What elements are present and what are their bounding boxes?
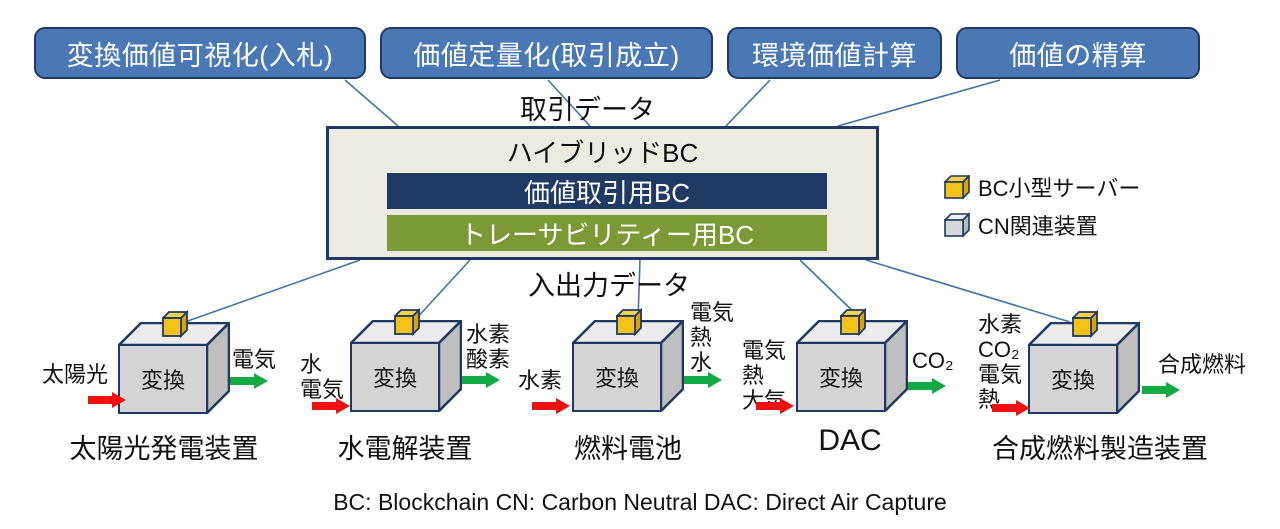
bc-server-icon[interactable] [162, 309, 188, 339]
device-face-label: 変換 [118, 344, 208, 414]
device-face-label: 変換 [1028, 344, 1118, 414]
device-label-fuel-cell: 燃料電池 [548, 427, 708, 466]
device-cube-fuel-cell: 変換 [572, 320, 684, 412]
yellow-cube-icon [944, 175, 970, 199]
bc-bar-value-trading: 価値取引用BC [387, 173, 827, 209]
diagram-canvas: 変換価値可視化(入札) 価値定量化(取引成立) 環境価値計算 価値の精算 取引デ… [0, 0, 1280, 529]
gray-cube-icon [944, 213, 970, 237]
input-arrow-electrolysis [312, 398, 350, 414]
device-label-solar-power: 太陽光発電装置 [44, 427, 284, 466]
pill-value-settlement[interactable]: 価値の精算 [956, 27, 1200, 79]
device-cube-dac: 変換 [796, 320, 908, 412]
connector-device-5 [866, 260, 1070, 322]
pill-value-visualization[interactable]: 変換価値可視化(入札) [34, 27, 366, 79]
bc-server-icon[interactable] [616, 307, 642, 337]
device-label-synthetic-fuel: 合成燃料製造装置 [960, 427, 1240, 466]
hybrid-bc-block: ハイブリッドBC 価値取引用BC トレーサビリティー用BC [326, 126, 879, 260]
legend-item-cn-equipment: CN関連装置 [944, 206, 1140, 244]
device-output-dac: CO₂ [912, 348, 954, 373]
device-synthetic-fuel: 変換 [1028, 322, 1140, 414]
device-fuel-cell: 変換 [572, 320, 684, 412]
device-input-synthetic-fuel: 水素 CO₂ 電気 熱 [978, 312, 1022, 412]
device-dac: 変換 [796, 320, 908, 412]
bc-server-icon[interactable] [1072, 309, 1098, 339]
device-input-electrolysis: 水 電気 [300, 352, 344, 402]
hybrid-bc-title: ハイブリッドBC [329, 133, 876, 170]
device-input-solar: 太陽光 [42, 362, 108, 387]
input-arrow-fuel-cell [532, 398, 570, 414]
footer-abbreviation-note: BC: Blockchain CN: Carbon Neutral DAC: D… [0, 489, 1280, 516]
output-arrow-synthetic-fuel [1142, 382, 1180, 398]
device-solar-power: 変換 [118, 322, 230, 414]
device-output-synthetic-fuel: 合成燃料 [1158, 352, 1246, 377]
device-input-fuel-cell: 水素 [518, 368, 562, 393]
device-face-label: 変換 [350, 342, 440, 412]
connector-device-1 [185, 260, 360, 322]
device-face-label: 変換 [572, 342, 662, 412]
legend-item-bc-server: BC小型サーバー [944, 168, 1140, 206]
connector-device-2 [415, 260, 470, 320]
input-arrow-dac [756, 398, 794, 414]
caption-transaction-data: 取引データ [520, 88, 655, 127]
bc-server-icon[interactable] [394, 307, 420, 337]
device-cube-solar: 変換 [118, 322, 230, 414]
input-arrow-solar [88, 392, 126, 408]
legend-label-bc-server: BC小型サーバー [978, 171, 1140, 203]
connector-pill-3 [726, 80, 770, 126]
cube-side-face [438, 320, 462, 412]
caption-io-data: 入出力データ [528, 264, 690, 303]
device-output-electrolysis: 水素 酸素 [466, 322, 510, 372]
connector-pill-1 [345, 80, 398, 126]
device-cube-synthetic-fuel: 変換 [1028, 322, 1140, 414]
output-arrow-fuel-cell [684, 372, 722, 388]
device-label-dac: DAC [790, 424, 910, 458]
device-face-label: 変換 [796, 342, 886, 412]
cube-side-face [660, 320, 684, 412]
output-arrow-solar [230, 373, 268, 389]
output-arrow-dac [908, 378, 946, 394]
device-cube-electrolysis: 変換 [350, 320, 462, 412]
pill-environmental-value[interactable]: 環境価値計算 [727, 27, 942, 79]
cube-side-face [884, 320, 908, 412]
device-label-water-electrolysis: 水電解装置 [310, 427, 500, 466]
legend: BC小型サーバー CN関連装置 [944, 168, 1140, 244]
device-output-solar: 電気 [232, 347, 276, 372]
cube-side-face [206, 322, 230, 414]
output-arrow-electrolysis [462, 372, 500, 388]
pill-value-quantification[interactable]: 価値定量化(取引成立) [380, 27, 713, 79]
bc-server-icon[interactable] [840, 307, 866, 337]
device-output-fuel-cell: 電気 熱 水 [690, 300, 734, 375]
bc-bar-traceability: トレーサビリティー用BC [387, 215, 827, 251]
device-water-electrolysis: 変換 [350, 320, 462, 412]
connector-pill-4 [838, 80, 1000, 126]
cube-side-face [1116, 322, 1140, 414]
input-arrow-synthetic-fuel [992, 400, 1030, 416]
legend-label-cn-equipment: CN関連装置 [978, 209, 1098, 241]
